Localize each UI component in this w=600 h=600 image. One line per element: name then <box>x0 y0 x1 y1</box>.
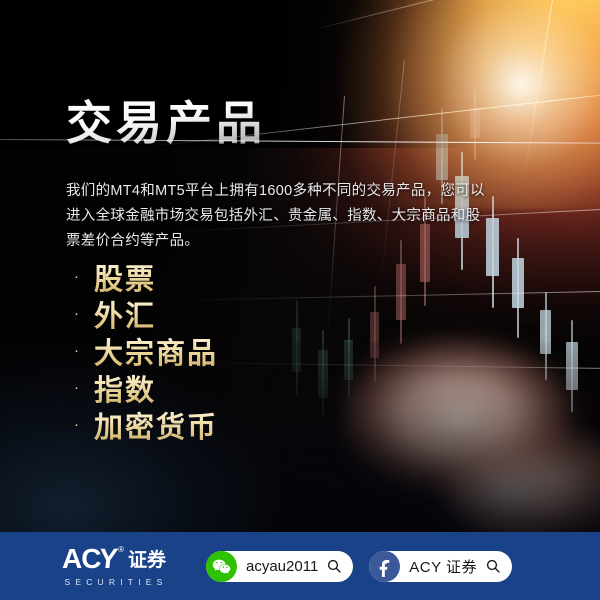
bullet-icon: · <box>74 417 94 432</box>
logo-wordmark: AC Y ® 证券 <box>62 545 166 573</box>
promo-graphic: 交易产品 交易产品 我们的MT4和MT5平台上拥有1600多种不同的交易产品，您… <box>0 0 600 600</box>
wechat-handle: acyau2011 <box>246 558 318 575</box>
product-label: 指数 <box>94 367 156 409</box>
wechat-icon <box>206 551 237 582</box>
page-title: 交易产品 <box>66 97 266 151</box>
logo-mark-y: Y <box>98 545 120 573</box>
list-item: · 加密货币 <box>74 406 218 443</box>
footer-bar: AC Y ® 证券 SECURITIES acyau2011 <box>0 532 600 600</box>
logo-mark-ac: AC <box>62 545 100 573</box>
product-list: · 股票 · 外汇 · 大宗商品 · 指数 · 加密货币 <box>74 258 218 443</box>
list-item: · 指数 <box>74 369 218 406</box>
product-label: 外汇 <box>94 293 156 335</box>
bullet-icon: · <box>74 306 94 321</box>
list-item: · 股票 <box>74 258 218 295</box>
list-item: · 大宗商品 <box>74 332 218 369</box>
bullet-icon: · <box>74 343 94 358</box>
search-icon[interactable] <box>326 558 342 574</box>
bullet-icon: · <box>74 380 94 395</box>
product-label: 加密货币 <box>94 404 218 446</box>
facebook-handle-pill[interactable]: ACY 证券 <box>369 551 512 582</box>
bullet-icon: · <box>74 269 94 284</box>
wechat-handle-pill[interactable]: acyau2011 <box>206 551 353 582</box>
logo-chinese: 证券 <box>128 549 166 573</box>
intro-paragraph: 我们的MT4和MT5平台上拥有1600多种不同的交易产品，您可以进入全球金融市场… <box>66 179 486 254</box>
product-label: 大宗商品 <box>94 330 218 372</box>
product-label: 股票 <box>94 256 156 298</box>
search-icon[interactable] <box>485 558 501 574</box>
facebook-handle: ACY 证券 <box>409 556 477 577</box>
facebook-icon <box>369 551 400 582</box>
acy-logo[interactable]: AC Y ® 证券 SECURITIES <box>38 545 190 587</box>
logo-subtitle: SECURITIES <box>64 577 167 587</box>
list-item: · 外汇 <box>74 295 218 332</box>
